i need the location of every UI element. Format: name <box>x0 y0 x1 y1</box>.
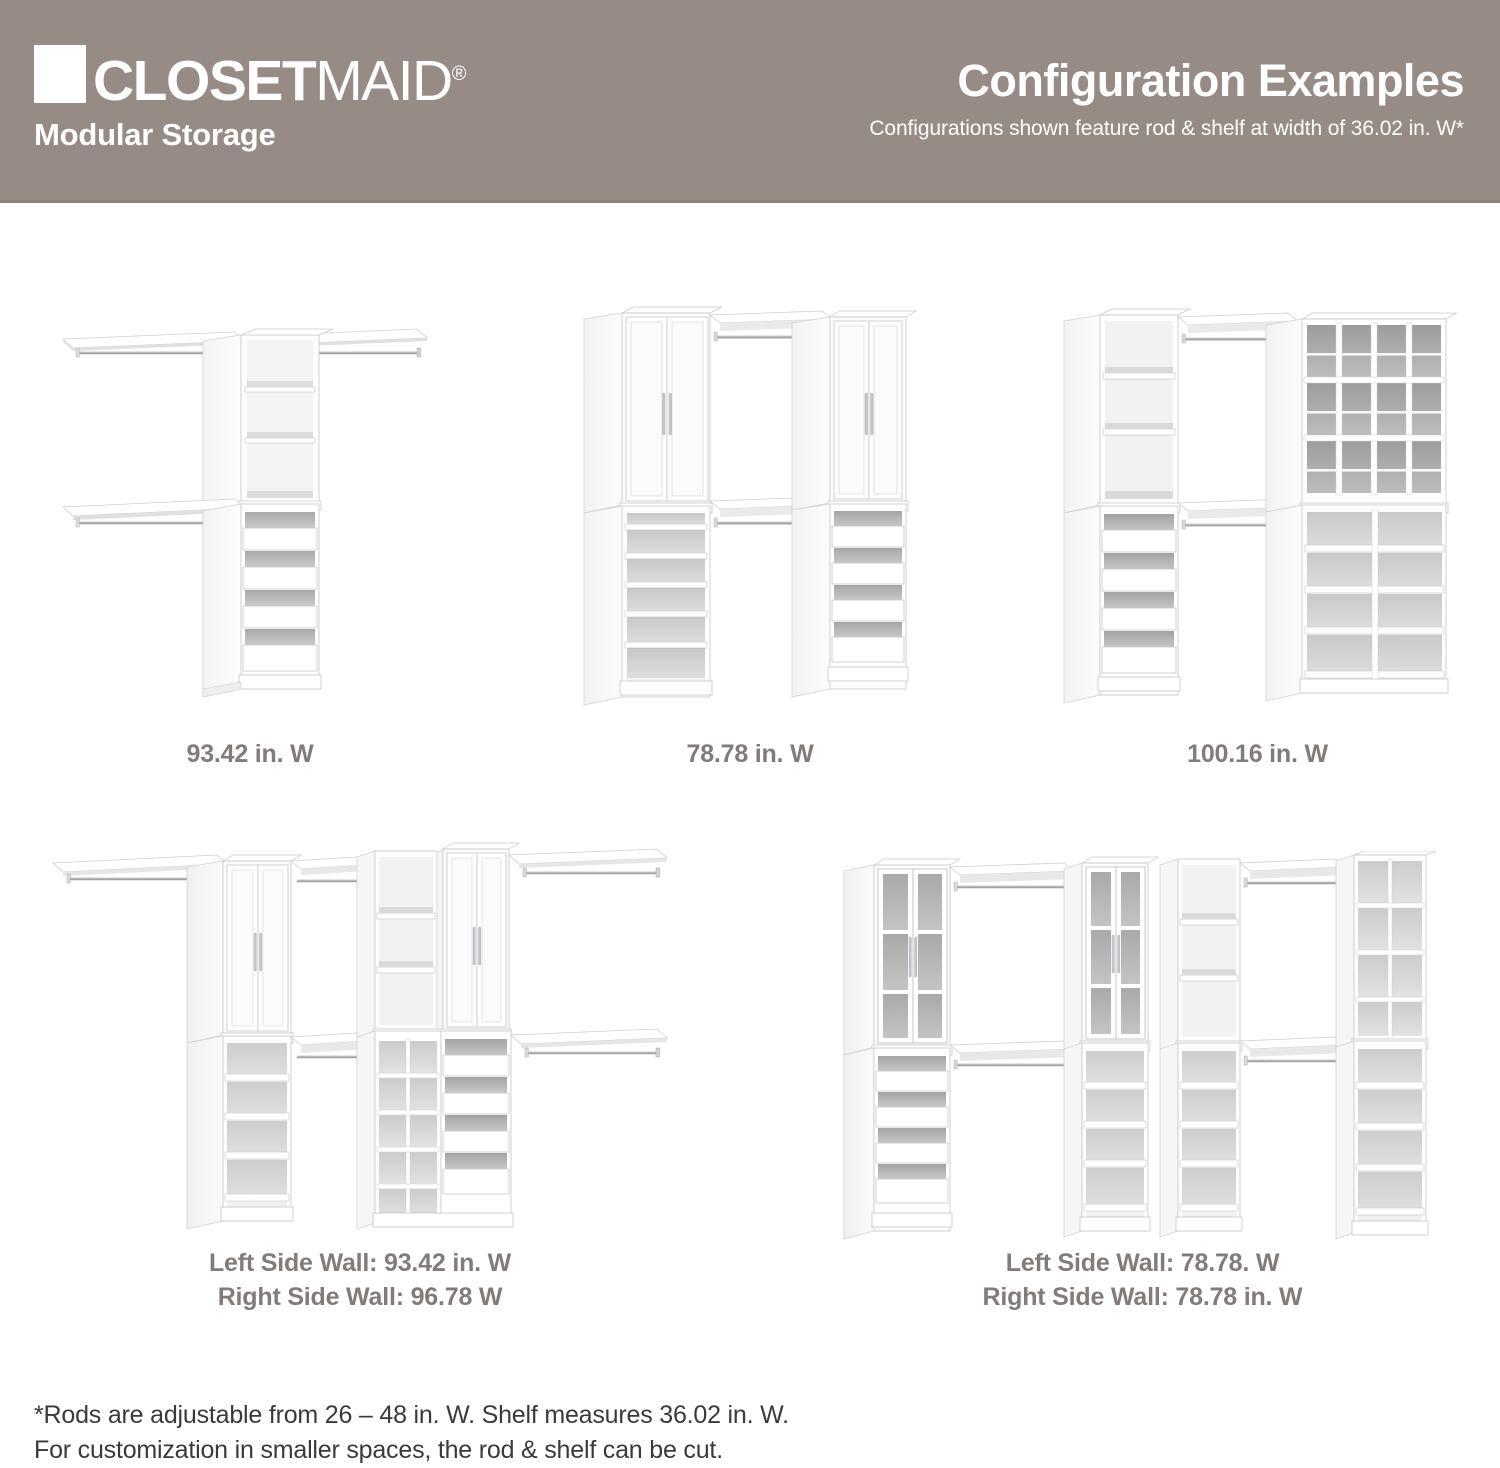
caption-line: Left Side Wall: 93.42 in. W <box>45 1246 675 1280</box>
configuration-gallery: 93.42 in. W <box>0 203 1500 1466</box>
brand-subtitle: Modular Storage <box>34 117 465 153</box>
caption-line: Right Side Wall: 96.78 W <box>45 1280 675 1314</box>
page-title: Configuration Examples <box>869 55 1464 107</box>
caption-line: 93.42 in. W <box>55 738 445 771</box>
caption-line: 78.78 in. W <box>570 738 930 771</box>
footnote-line-2: For customization in smaller spaces, the… <box>34 1433 1234 1468</box>
caption-line: Right Side Wall: 78.78 in. W <box>830 1280 1455 1314</box>
config-caption-78-78: 78.78 in. W <box>570 738 930 771</box>
config-caption-corner-right: Left Side Wall: 78.78. W Right Side Wall… <box>830 1246 1455 1314</box>
caption-line: 100.16 in. W <box>1050 738 1465 771</box>
closetmaid-logo-square-icon <box>34 45 86 103</box>
wordmark-closet: CLOSET <box>93 49 315 113</box>
config-caption-93-42: 93.42 in. W <box>55 738 445 771</box>
config-illustration-corner-left <box>45 841 675 1241</box>
closetmaid-wordmark: CLOSETMAID® <box>93 45 465 110</box>
config-illustration-corner-right <box>830 851 1455 1243</box>
page-header: CLOSETMAID® Modular Storage Configuratio… <box>0 0 1500 203</box>
registered-trademark-icon: ® <box>452 63 465 85</box>
config-illustration-93-42 <box>55 315 445 715</box>
header-text-block: Configuration Examples Configurations sh… <box>869 55 1464 141</box>
caption-line: Left Side Wall: 78.78. W <box>830 1246 1455 1280</box>
brand-lockup: CLOSETMAID® Modular Storage <box>34 45 465 153</box>
wordmark-maid: MAID <box>315 49 452 113</box>
page-subtitle: Configurations shown feature rod & shelf… <box>869 117 1464 141</box>
config-caption-corner-left: Left Side Wall: 93.42 in. W Right Side W… <box>45 1246 675 1314</box>
config-illustration-78-78 <box>570 305 930 715</box>
footnote: *Rods are adjustable from 26 – 48 in. W.… <box>34 1398 1234 1468</box>
config-illustration-100-16 <box>1050 305 1465 715</box>
config-caption-100-16: 100.16 in. W <box>1050 738 1465 771</box>
footnote-line-1: *Rods are adjustable from 26 – 48 in. W.… <box>34 1398 1234 1433</box>
